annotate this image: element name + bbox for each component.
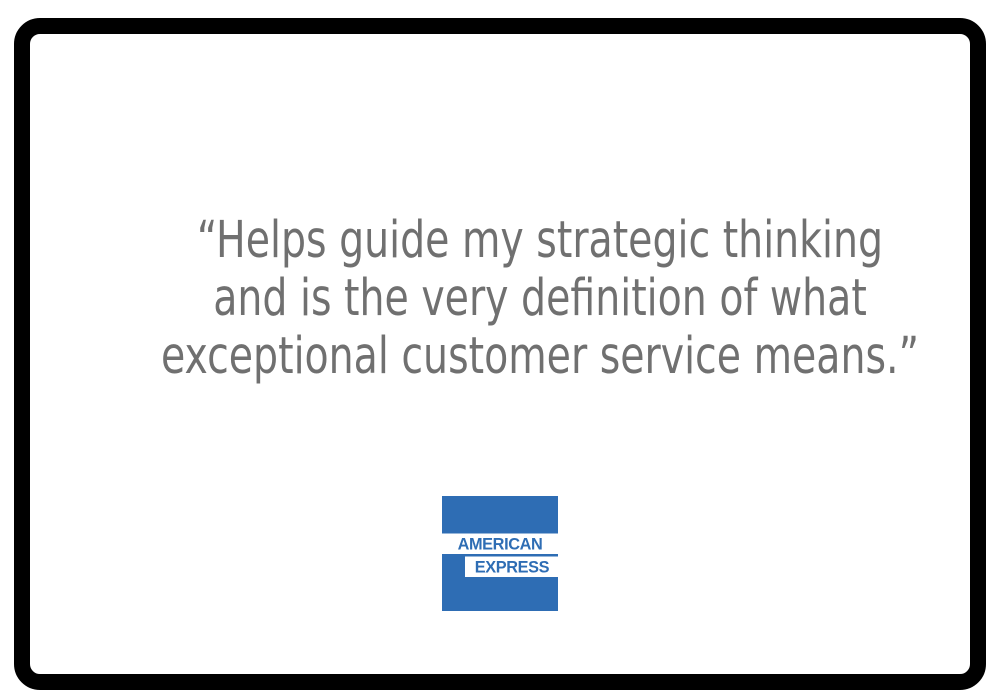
slide-canvas: “Helps guide my strategic thinking and i… [0,0,1000,700]
amex-wordmark-line-1: AMERICAN [458,534,543,553]
american-express-logo: AMERICAN EXPRESS [442,496,558,611]
quote-line-2: and is the very definition of what [153,270,927,328]
quote-line-1: “Helps guide my strategic thinking [153,212,927,270]
american-express-logo-icon: AMERICAN EXPRESS [442,496,558,611]
testimonial-quote: “Helps guide my strategic thinking and i… [90,212,990,386]
amex-wordmark-line-2: EXPRESS [475,557,550,576]
quote-line-3: exceptional customer service means.” [153,328,927,386]
